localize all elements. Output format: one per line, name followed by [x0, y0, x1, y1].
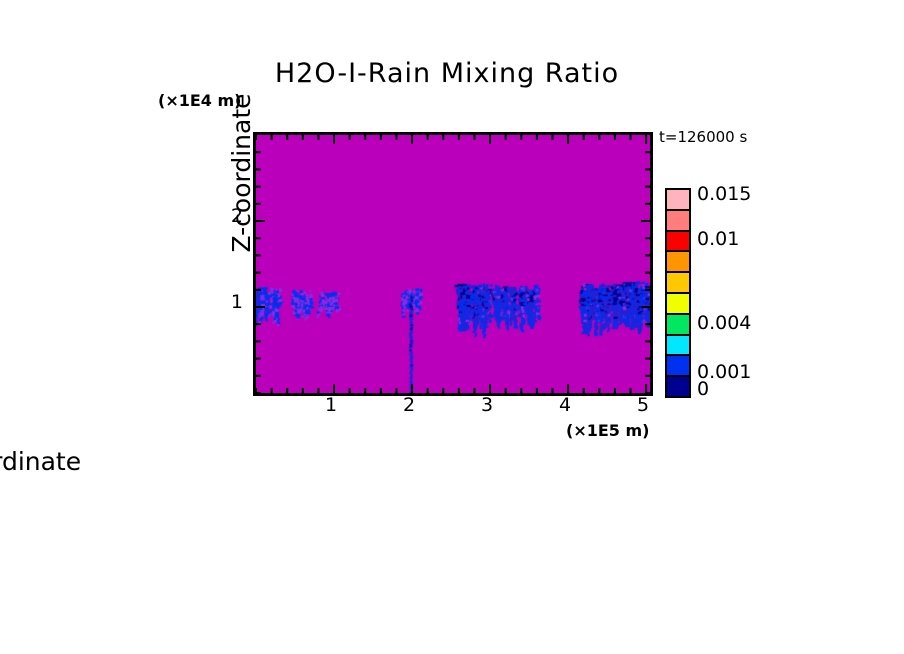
colorbar-band-9: [667, 377, 689, 396]
colorbar-band-2: [667, 232, 689, 253]
colorbar-band-1: [667, 211, 689, 232]
x-axis-title-text: X-coordinate: [0, 447, 81, 476]
colorbar-band-4: [667, 273, 689, 294]
colorbar-band-0: [667, 190, 689, 211]
y-axis-title-text: Z-coordinate: [227, 93, 256, 252]
colorbar-band-8: [667, 356, 689, 377]
colorbar-label-0: 0.015: [697, 183, 751, 205]
plot-title-text: H2O-I-Rain Mixing Ratio: [275, 58, 619, 89]
colorbar-legend: [665, 188, 691, 398]
colorbar-label-2: 0.004: [697, 312, 751, 334]
x-axis-title: X-coordinate: [0, 447, 904, 476]
x-tick-label-2: 3: [467, 394, 507, 416]
figure-canvas: H2O-I-Rain Mixing Ratio (×1E4 m) t=12600…: [0, 0, 904, 654]
y-axis-title: Z-coordinate: [227, 70, 257, 276]
x-axis-unit-caption: (×1E5 m): [566, 421, 649, 440]
page-title: H2O-I-Rain Mixing Ratio: [0, 58, 904, 89]
colorbar-label-4: 0: [697, 378, 709, 400]
colorbar-band-6: [667, 315, 689, 336]
x-tick-label-4: 5: [623, 394, 663, 416]
x-tick-label-1: 2: [389, 394, 429, 416]
x-tick-label-0: 1: [311, 394, 351, 416]
plot-area: [253, 132, 653, 396]
colorbar-band-3: [667, 252, 689, 273]
colorbar-band-7: [667, 336, 689, 357]
timestamp-annotation: t=126000 s: [659, 128, 747, 146]
colorbar-band-5: [667, 294, 689, 315]
x-tick-label-3: 4: [545, 394, 585, 416]
colorbar-label-1: 0.01: [697, 228, 739, 250]
y-tick-label-0: 1: [203, 291, 243, 313]
rain-mixing-ratio-field: [256, 135, 650, 393]
